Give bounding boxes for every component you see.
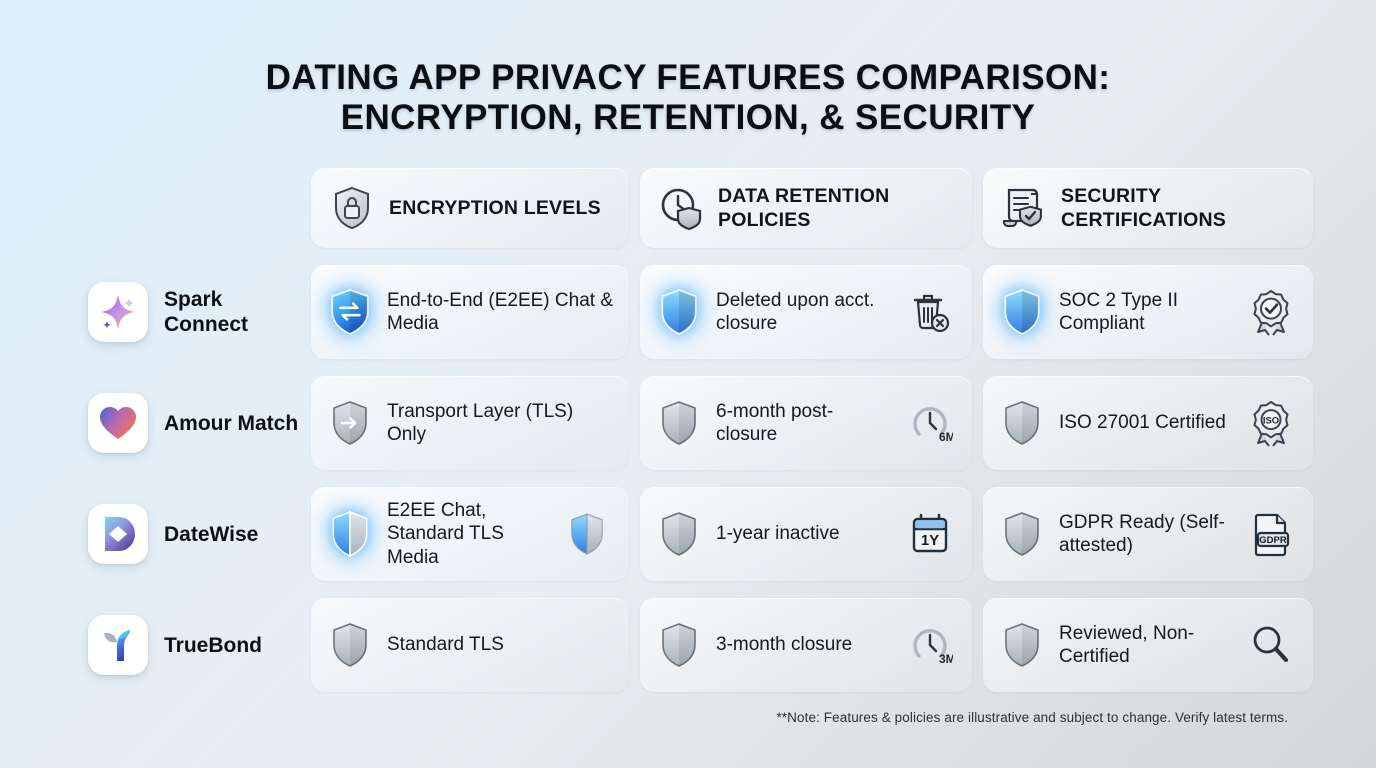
cell-spark-connect-retention[interactable]: Deleted upon acct. closure [640,265,972,359]
comparison-grid: ENCRYPTION LEVELS DATA RETENTION POLICIE… [62,168,1314,692]
cell-text: E2EE Chat, Standard TLS Media [387,499,547,570]
document-gdpr-icon: GDPR [1245,511,1297,557]
page-title-line-1: DATING APP PRIVACY FEATURES COMPARISON: [266,58,1111,97]
clock-badge-3m: 3M [939,652,953,666]
cell-text: 6-month post-closure [716,400,890,447]
cell-text: GDPR Ready (Self-attested) [1059,511,1231,558]
cell-amour-match-certifications[interactable]: ISO 27001 Certified ISO [983,376,1313,470]
grid-corner-spacer [62,168,300,248]
clock-shield-icon [658,186,704,230]
shield-icon [656,622,702,668]
cell-truebond-encryption[interactable]: Standard TLS [311,598,629,692]
cell-datewise-retention[interactable]: 1-year inactive 1Y [640,487,972,581]
certificate-scroll-icon [1001,185,1047,231]
row-label-spark-connect: Spark Connect [62,265,300,359]
row-label-amour-match: Amour Match [62,376,300,470]
column-header-encryption: ENCRYPTION LEVELS [311,168,629,248]
award-badge-iso: ISO [1263,416,1279,427]
column-header-certifications-label: SECURITY CERTIFICATIONS [1061,184,1295,232]
app-name: TrueBond [164,633,262,658]
award-iso-icon: ISO [1245,399,1297,447]
cell-spark-connect-encryption[interactable]: End-to-End (E2EE) Chat & Media [311,265,629,359]
cell-text: ISO 27001 Certified [1059,411,1231,435]
column-header-retention: DATA RETENTION POLICIES [640,168,972,248]
datewise-logo [88,504,148,564]
shield-icon [327,622,373,668]
clock-3m-icon: 3M [904,622,956,668]
cell-text: Standard TLS [387,633,613,657]
clock-badge-6m: 6M [939,430,953,444]
cell-amour-match-encryption[interactable]: Transport Layer (TLS) Only [311,376,629,470]
app-name: DateWise [164,522,258,547]
clock-6m-icon: 6M [904,400,956,446]
truebond-logo [88,615,148,675]
cell-spark-connect-certifications[interactable]: SOC 2 Type II Compliant [983,265,1313,359]
cell-text: End-to-End (E2EE) Chat & Media [387,289,613,336]
cell-text: Transport Layer (TLS) Only [387,400,613,447]
shield-half-icon [327,510,373,558]
calendar-1y-icon: 1Y [904,511,956,557]
spark-connect-logo [88,282,148,342]
shield-icon [999,511,1045,557]
shield-icon [656,511,702,557]
column-header-retention-label: DATA RETENTION POLICIES [718,184,954,232]
cell-amour-match-retention[interactable]: 6-month post-closure 6M [640,376,972,470]
calendar-badge-1y: 1Y [921,532,939,549]
cell-text: SOC 2 Type II Compliant [1059,289,1231,336]
footnote: **Note: Features & policies are illustra… [776,710,1288,725]
cell-text: Deleted upon acct. closure [716,289,890,336]
document-badge-gdpr: GDPR [1259,535,1287,546]
shield-exchange-icon [327,288,373,336]
shield-icon [656,288,702,336]
cell-text: 3-month closure [716,633,890,657]
cell-truebond-retention[interactable]: 3-month closure 3M [640,598,972,692]
shield-icon [999,400,1045,446]
trash-delete-icon [904,289,956,335]
cell-datewise-certifications[interactable]: GDPR Ready (Self-attested) GDPR [983,487,1313,581]
row-label-datewise: DateWise [62,487,300,581]
amour-match-logo [88,393,148,453]
shield-half-small-icon [561,512,613,556]
cell-truebond-certifications[interactable]: Reviewed, Non-Certified [983,598,1313,692]
app-name: Amour Match [164,411,298,436]
shield-lock-icon [329,186,375,230]
shield-icon [999,288,1045,336]
magnifier-icon [1245,622,1297,668]
cell-text: Reviewed, Non-Certified [1059,622,1231,669]
award-check-icon [1245,288,1297,336]
row-label-truebond: TrueBond [62,598,300,692]
app-name: Spark Connect [164,287,300,337]
cell-datewise-encryption[interactable]: E2EE Chat, Standard TLS Media [311,487,629,581]
page-title-line-2: ENCRYPTION, RETENTION, & SECURITY [0,98,1376,138]
column-header-encryption-label: ENCRYPTION LEVELS [389,196,601,220]
shield-icon [656,400,702,446]
shield-arrow-icon [327,400,373,446]
cell-text: 1-year inactive [716,522,890,546]
page-title: DATING APP PRIVACY FEATURES COMPARISON: … [0,0,1376,138]
shield-icon [999,622,1045,668]
column-header-certifications: SECURITY CERTIFICATIONS [983,168,1313,248]
